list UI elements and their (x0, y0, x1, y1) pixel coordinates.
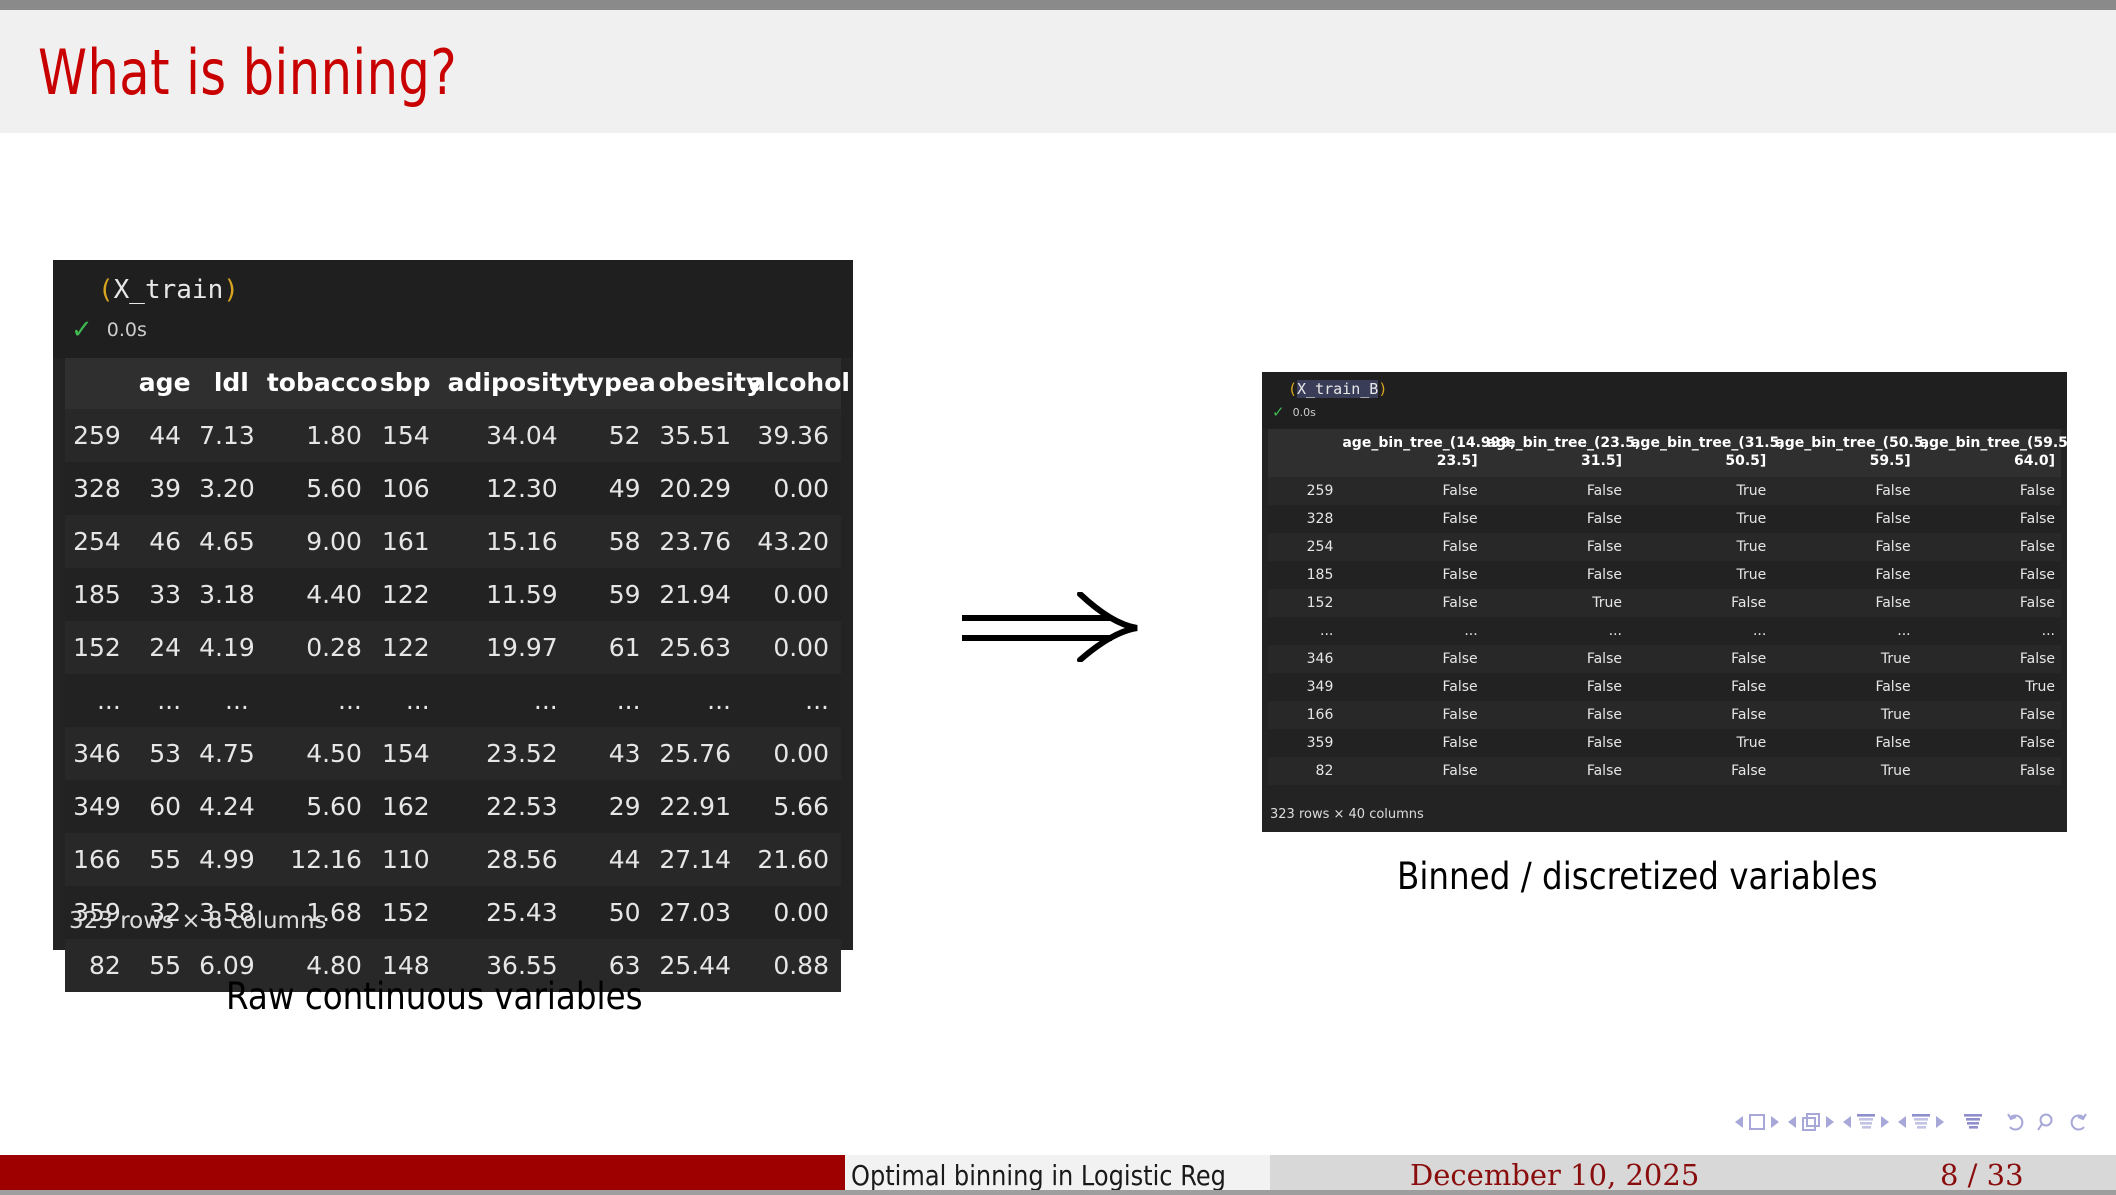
table-cell: 3.18 (193, 568, 261, 621)
table-cell: 46 (133, 515, 193, 568)
table-cell: 0.00 (743, 727, 841, 780)
notebook-cell-header-right: (X_train_B) ✓ 0.0s (1262, 372, 2067, 429)
table-row-index: 259 (1268, 477, 1339, 505)
table-cell: 3.20 (193, 462, 261, 515)
table-cell: 21.94 (653, 568, 743, 621)
table-row-index: 185 (1268, 561, 1339, 589)
table-cell: 22.91 (653, 780, 743, 833)
nav-back-icon[interactable] (2006, 1112, 2028, 1132)
table-cell: ... (1772, 617, 1916, 645)
table-cell: ... (193, 674, 261, 727)
slide-title-bar: What is binning? (0, 10, 2116, 133)
table-cell: 25.63 (653, 621, 743, 674)
table-cell: 23.76 (653, 515, 743, 568)
table-cell: False (1917, 729, 2061, 757)
table-cell: 0.00 (743, 621, 841, 674)
table-cell: True (1772, 645, 1916, 673)
table-cell: 33 (133, 568, 193, 621)
table-body-left: 259447.131.8015434.045235.5139.36328393.… (65, 409, 841, 992)
table-cell: True (1484, 589, 1628, 617)
table-row: 185FalseFalseTrueFalseFalse (1268, 561, 2061, 589)
nav-frame-stack-icon[interactable] (1801, 1112, 1821, 1132)
table-cell: True (1628, 477, 1772, 505)
cell-exec-time-left: 0.0s (107, 319, 147, 341)
table-cell: 55 (133, 833, 193, 886)
table-row-index: ... (1268, 617, 1339, 645)
table-cell: ... (1484, 617, 1628, 645)
table-cell: 154 (374, 409, 442, 462)
table-column-header: age_bin_tree_(23.5, 31.5] (1484, 429, 1628, 477)
table-column-header: obesity (653, 358, 743, 409)
nav-slide-box-icon[interactable] (1748, 1113, 1766, 1131)
table-row-index: 259 (65, 409, 133, 462)
table-cell: ... (743, 674, 841, 727)
table-cell: 25.44 (653, 939, 743, 992)
table-row-index: 82 (1268, 757, 1339, 785)
dataframe-shape-left: 323 rows × 8 columns (69, 908, 327, 934)
table-cell: 22.53 (442, 780, 570, 833)
table-row-index: ... (65, 674, 133, 727)
nav-subsection-prev-icon[interactable] (1843, 1116, 1851, 1128)
table-cell: 59 (570, 568, 653, 621)
table-cell: False (1484, 645, 1628, 673)
table-cell: False (1484, 477, 1628, 505)
table-cell: False (1484, 505, 1628, 533)
table-cell: True (1628, 561, 1772, 589)
table-cell: False (1772, 729, 1916, 757)
table-cell: 4.19 (193, 621, 261, 674)
nav-toc-lines-icon[interactable] (1963, 1113, 1983, 1131)
notebook-cell-header-left: (X_train) ✓ 0.0s (53, 260, 853, 358)
table-cell: 60 (133, 780, 193, 833)
table-cell: 106 (374, 462, 442, 515)
table-cell: 0.88 (743, 939, 841, 992)
table-header-row-right: age_bin_tree_(14.999, 23.5]age_bin_tree_… (1268, 429, 2061, 477)
table-row-index: 166 (65, 833, 133, 886)
table-cell: False (1917, 477, 2061, 505)
table-cell: 44 (570, 833, 653, 886)
table-cell: False (1484, 561, 1628, 589)
table-row: 346FalseFalseFalseTrueFalse (1268, 645, 2061, 673)
table-cell: 5.66 (743, 780, 841, 833)
table-cell: False (1484, 757, 1628, 785)
table-cell: False (1339, 673, 1483, 701)
table-cell: ... (1339, 617, 1483, 645)
table-row: 254464.659.0016115.165823.7643.20 (65, 515, 841, 568)
table-cell: False (1628, 673, 1772, 701)
table-row-index: 254 (1268, 533, 1339, 561)
table-cell: 39 (133, 462, 193, 515)
table-cell: 4.75 (193, 727, 261, 780)
nav-group-slide[interactable] (1735, 1113, 1779, 1131)
nav-section-next-icon[interactable] (1936, 1116, 1944, 1128)
nav-section-prev-icon[interactable] (1898, 1116, 1906, 1128)
code-open-paren-right: ( (1288, 380, 1297, 398)
table-cell: 154 (374, 727, 442, 780)
table-row: 349FalseFalseFalseFalseTrue (1268, 673, 2061, 701)
table-row-index: 328 (1268, 505, 1339, 533)
check-icon: ✓ (1272, 403, 1285, 421)
table-row-index: 166 (1268, 701, 1339, 729)
footer-bar-left-accent (0, 1155, 845, 1195)
nav-group-section[interactable] (1898, 1113, 1944, 1131)
table-row-index: 185 (65, 568, 133, 621)
table-column-header: typea (570, 358, 653, 409)
table-cell: 122 (374, 621, 442, 674)
table-cell: 50 (570, 886, 653, 939)
table-column-header: age_bin_tree_(59.5, 64.0] (1917, 429, 2061, 477)
table-column-header: age_bin_tree_(31.5, 50.5] (1628, 429, 1772, 477)
table-row: ........................... (65, 674, 841, 727)
table-cell: False (1628, 645, 1772, 673)
footer-date: December 10, 2025 (1410, 1155, 1699, 1195)
table-cell: ... (442, 674, 570, 727)
nav-group-subsection[interactable] (1843, 1113, 1889, 1131)
table-cell: True (1628, 505, 1772, 533)
nav-subsection-lines-icon[interactable] (1856, 1113, 1876, 1131)
table-cell: False (1917, 533, 2061, 561)
table-cell: 162 (374, 780, 442, 833)
table-row-index: 152 (1268, 589, 1339, 617)
table-cell: False (1628, 701, 1772, 729)
table-cell: ... (570, 674, 653, 727)
nav-subsection-next-icon[interactable] (1881, 1116, 1889, 1128)
footer-presentation-title: Optimal binning in Logistic Reg (851, 1159, 1226, 1192)
table-row: 152FalseTrueFalseFalseFalse (1268, 589, 2061, 617)
table-cell: 0.28 (261, 621, 374, 674)
table-cell: False (1484, 729, 1628, 757)
caption-binned-variables: Binned / discretized variables (1397, 855, 1878, 898)
table-cell: True (1772, 701, 1916, 729)
table-cell: 61 (570, 621, 653, 674)
table-cell: 4.50 (261, 727, 374, 780)
table-cell: 5.60 (261, 462, 374, 515)
table-cell: False (1628, 589, 1772, 617)
table-row: 349604.245.6016222.532922.915.66 (65, 780, 841, 833)
table-cell: False (1772, 533, 1916, 561)
table-cell: 27.14 (653, 833, 743, 886)
table-cell: False (1772, 561, 1916, 589)
table-row-index: 346 (65, 727, 133, 780)
table-cell: 21.60 (743, 833, 841, 886)
table-row: 166FalseFalseFalseTrueFalse (1268, 701, 2061, 729)
table-row-index: 349 (1268, 673, 1339, 701)
table-cell: 4.24 (193, 780, 261, 833)
table-row: 328393.205.6010612.304920.290.00 (65, 462, 841, 515)
code-close-paren-right: ) (1378, 380, 1387, 398)
dataframe-table-right: age_bin_tree_(14.999, 23.5]age_bin_tree_… (1268, 429, 2061, 785)
table-cell: 4.99 (193, 833, 261, 886)
table-row-index: 254 (65, 515, 133, 568)
nav-frame-next-icon[interactable] (1826, 1116, 1834, 1128)
table-row-index: 349 (65, 780, 133, 833)
top-border-strip (0, 0, 2116, 10)
nav-slide-prev-icon[interactable] (1735, 1116, 1743, 1128)
dataframe-shape-right: 323 rows × 40 columns (1270, 807, 1424, 822)
table-cell: False (1339, 701, 1483, 729)
table-row: .................. (1268, 617, 2061, 645)
table-header-row-left: ageldltobaccosbpadipositytypeaobesityalc… (65, 358, 841, 409)
footer-bar-title-area: Optimal binning in Logistic Reg (845, 1155, 1270, 1195)
table-cell: ... (653, 674, 743, 727)
dataframe-table-left: ageldltobaccosbpadipositytypeaobesityalc… (65, 358, 841, 992)
table-cell: 20.29 (653, 462, 743, 515)
table-cell: True (1772, 757, 1916, 785)
table-row: 328FalseFalseTrueFalseFalse (1268, 505, 2061, 533)
nav-frame-prev-icon[interactable] (1788, 1116, 1796, 1128)
table-row-index: 346 (1268, 645, 1339, 673)
table-row-index: 152 (65, 621, 133, 674)
table-cell: 49 (570, 462, 653, 515)
dataframe-wrap-left: ageldltobaccosbpadipositytypeaobesityalc… (53, 358, 853, 992)
caption-raw-variables: Raw continuous variables (226, 975, 643, 1018)
cell-status-right: ✓ 0.0s (1272, 403, 1316, 421)
code-close-paren-left: ) (223, 275, 239, 305)
footer-page-number: 8 / 33 (1940, 1155, 2024, 1195)
page-title: What is binning? (38, 36, 457, 109)
table-cell: 24 (133, 621, 193, 674)
table-column-header: tobacco (261, 358, 374, 409)
cell-exec-time-right: 0.0s (1293, 406, 1316, 419)
table-body-right: 259FalseFalseTrueFalseFalse328FalseFalse… (1268, 477, 2061, 785)
table-column-header: sbp (374, 358, 442, 409)
dataframe-wrap-right: age_bin_tree_(14.999, 23.5]age_bin_tree_… (1262, 429, 2067, 785)
table-cell: 4.40 (261, 568, 374, 621)
table-cell: ... (1917, 617, 2061, 645)
cell-code-right: (X_train_B) (1288, 380, 1387, 398)
table-row: 166554.9912.1611028.564427.1421.60 (65, 833, 841, 886)
table-cell: 55 (133, 939, 193, 992)
table-column-header: age_bin_tree_(14.999, 23.5] (1339, 429, 1483, 477)
table-cell: False (1772, 589, 1916, 617)
table-cell: 39.36 (743, 409, 841, 462)
table-cell: 35.51 (653, 409, 743, 462)
table-row-index: 359 (1268, 729, 1339, 757)
table-cell: 27.03 (653, 886, 743, 939)
table-row-index: 328 (65, 462, 133, 515)
table-cell: False (1772, 673, 1916, 701)
table-column-header: age_bin_tree_(50.5, 59.5] (1772, 429, 1916, 477)
table-cell: 0.00 (743, 462, 841, 515)
table-cell: 122 (374, 568, 442, 621)
table-cell: False (1339, 505, 1483, 533)
table-cell: 1.80 (261, 409, 374, 462)
table-cell: False (1339, 757, 1483, 785)
nav-forward-icon[interactable] (2066, 1112, 2088, 1132)
table-cell: 0.00 (743, 886, 841, 939)
table-cell: True (1917, 673, 2061, 701)
table-cell: 23.52 (442, 727, 570, 780)
table-cell: False (1339, 589, 1483, 617)
code-variable-left: X_train (114, 275, 224, 305)
table-cell: 25.76 (653, 727, 743, 780)
table-cell: ... (1628, 617, 1772, 645)
table-cell: False (1772, 505, 1916, 533)
table-cell: False (1339, 729, 1483, 757)
table-cell: False (1339, 477, 1483, 505)
table-cell: 0.00 (743, 568, 841, 621)
table-row: 82FalseFalseFalseTrueFalse (1268, 757, 2061, 785)
table-cell: False (1484, 673, 1628, 701)
table-cell: 43.20 (743, 515, 841, 568)
table-index-header (1268, 429, 1339, 477)
table-cell: True (1628, 533, 1772, 561)
table-column-header: adiposity (442, 358, 570, 409)
table-cell: 44 (133, 409, 193, 462)
table-cell: 19.97 (442, 621, 570, 674)
table-cell: 52 (570, 409, 653, 462)
nav-search-icon[interactable] (2037, 1112, 2057, 1132)
notebook-output-binned: (X_train_B) ✓ 0.0s age_bin_tree_(14.999,… (1262, 372, 2067, 832)
table-cell: 152 (374, 886, 442, 939)
table-cell: 5.60 (261, 780, 374, 833)
table-column-header: alcohol (743, 358, 841, 409)
table-cell: 29 (570, 780, 653, 833)
table-cell: 4.65 (193, 515, 261, 568)
nav-section-lines-icon[interactable] (1911, 1113, 1931, 1131)
table-cell: False (1484, 533, 1628, 561)
double-right-arrow-icon (962, 592, 1142, 662)
table-cell: False (1917, 701, 2061, 729)
table-cell: False (1917, 589, 2061, 617)
nav-slide-next-icon[interactable] (1771, 1116, 1779, 1128)
notebook-output-raw: (X_train) ✓ 0.0s ageldltobaccosbpadiposi… (53, 260, 853, 950)
table-cell: True (1628, 729, 1772, 757)
table-cell: False (1339, 645, 1483, 673)
table-cell: False (1917, 561, 2061, 589)
cell-code-left: (X_train) (98, 275, 239, 305)
table-cell: 161 (374, 515, 442, 568)
cell-status-left: ✓ 0.0s (71, 315, 147, 345)
code-variable-right: X_train_B (1297, 380, 1378, 398)
table-row: 346534.754.5015423.524325.760.00 (65, 727, 841, 780)
table-cell: 15.16 (442, 515, 570, 568)
beamer-navigation-bar[interactable] (1735, 1112, 2088, 1132)
table-cell: False (1772, 477, 1916, 505)
table-cell: False (1628, 757, 1772, 785)
table-cell: 43 (570, 727, 653, 780)
table-row: 254FalseFalseTrueFalseFalse (1268, 533, 2061, 561)
nav-group-frame[interactable] (1788, 1112, 1834, 1132)
table-row: 152244.190.2812219.976125.630.00 (65, 621, 841, 674)
table-cell: 12.30 (442, 462, 570, 515)
table-cell: False (1484, 701, 1628, 729)
table-cell: 53 (133, 727, 193, 780)
table-cell: 58 (570, 515, 653, 568)
table-row: 259447.131.8015434.045235.5139.36 (65, 409, 841, 462)
table-cell: 25.43 (442, 886, 570, 939)
table-cell: False (1917, 505, 2061, 533)
table-row: 259FalseFalseTrueFalseFalse (1268, 477, 2061, 505)
table-cell: 12.16 (261, 833, 374, 886)
table-cell: 34.04 (442, 409, 570, 462)
table-cell: False (1339, 533, 1483, 561)
table-cell: 28.56 (442, 833, 570, 886)
table-cell: ... (133, 674, 193, 727)
table-row: 359FalseFalseTrueFalseFalse (1268, 729, 2061, 757)
check-icon: ✓ (71, 315, 93, 345)
table-cell: False (1339, 561, 1483, 589)
table-cell: 7.13 (193, 409, 261, 462)
table-cell: ... (261, 674, 374, 727)
table-cell: ... (374, 674, 442, 727)
table-column-header: ldl (193, 358, 261, 409)
bottom-border-strip (0, 1190, 2116, 1195)
table-cell: 11.59 (442, 568, 570, 621)
table-row-index: 82 (65, 939, 133, 992)
table-cell: False (1917, 757, 2061, 785)
table-index-header (65, 358, 133, 409)
code-open-paren-left: ( (98, 275, 114, 305)
table-cell: 110 (374, 833, 442, 886)
table-column-header: age (133, 358, 193, 409)
table-row: 185333.184.4012211.595921.940.00 (65, 568, 841, 621)
table-cell: False (1917, 645, 2061, 673)
table-cell: 9.00 (261, 515, 374, 568)
